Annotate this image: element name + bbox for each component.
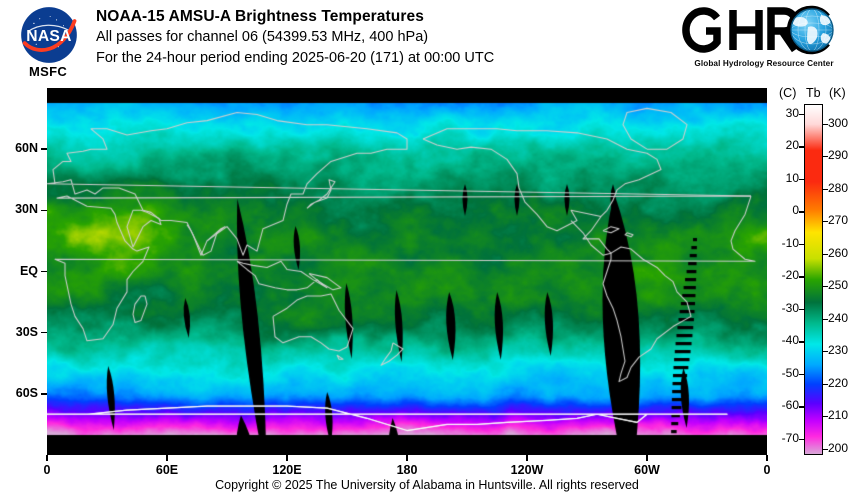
x-axis-label: 0 bbox=[745, 463, 789, 477]
ghrc-logo: Global Hydrology Resource Center bbox=[681, 4, 847, 78]
colorbar-tick-mark bbox=[799, 341, 805, 342]
x-axis-tick-mark bbox=[166, 455, 167, 461]
colorbar-kelvin-tick: 250 bbox=[828, 278, 848, 292]
colorbar-tick-mark bbox=[799, 179, 805, 180]
colorbar-tick-mark bbox=[822, 449, 828, 450]
colorbar-celsius-tick: -40 bbox=[763, 333, 799, 347]
colorbar-kelvin-tick: 210 bbox=[828, 408, 848, 422]
colorbar-tick-mark bbox=[799, 146, 805, 147]
x-axis-label: 120W bbox=[505, 463, 549, 477]
colorbar-tick-mark bbox=[799, 276, 805, 277]
colorbar-kelvin-tick: 290 bbox=[828, 148, 848, 162]
globe-icon bbox=[791, 9, 833, 51]
colorbar-celsius-tick: -50 bbox=[763, 366, 799, 380]
y-axis-label: EQ bbox=[0, 264, 38, 278]
colorbar-gradient bbox=[805, 105, 822, 454]
x-axis-tick-mark bbox=[646, 455, 647, 461]
y-axis-label: 30N bbox=[0, 202, 38, 216]
colorbar-celsius-tick: -70 bbox=[763, 431, 799, 445]
y-axis-label: 60S bbox=[0, 386, 38, 400]
x-axis-label: 120E bbox=[265, 463, 309, 477]
colorbar-tick-mark bbox=[822, 319, 828, 320]
x-axis-tick-mark bbox=[46, 455, 47, 461]
colorbar-tick-mark bbox=[822, 286, 828, 287]
colorbar-kelvin-tick: 200 bbox=[828, 441, 848, 455]
colorbar-tick-mark bbox=[799, 374, 805, 375]
page-title: NOAA-15 AMSU-A Brightness Temperatures bbox=[96, 7, 494, 27]
colorbar-kelvin-tick: 260 bbox=[828, 246, 848, 260]
x-axis-label: 180 bbox=[385, 463, 429, 477]
colorbar-tick-mark bbox=[799, 406, 805, 407]
brightness-temperature-heatmap[interactable] bbox=[47, 88, 767, 455]
colorbar-kelvin-tick: 240 bbox=[828, 311, 848, 325]
colorbar-tick-mark bbox=[822, 351, 828, 352]
y-axis-tick-mark bbox=[41, 210, 47, 211]
colorbar-tick-mark bbox=[822, 156, 828, 157]
colorbar-tick-mark bbox=[799, 114, 805, 115]
x-axis-tick-mark bbox=[406, 455, 407, 461]
colorbar-celsius-tick: -30 bbox=[763, 301, 799, 315]
x-axis-label: 60E bbox=[145, 463, 189, 477]
nasa-center-label: MSFC bbox=[8, 64, 88, 79]
colorbar-tick-mark bbox=[799, 439, 805, 440]
figure-root: NASA MSFC NOAA-15 AMSU-A Brightness Temp… bbox=[0, 0, 854, 502]
colorbar-tick-mark bbox=[822, 124, 828, 125]
map-plot-area[interactable] bbox=[47, 88, 767, 455]
colorbar-celsius-tick: 10 bbox=[763, 171, 799, 185]
colorbar-celsius-tick: 30 bbox=[763, 106, 799, 120]
ghrc-acronym-icon bbox=[681, 5, 847, 57]
colorbar-tick-mark bbox=[822, 384, 828, 385]
colorbar-kelvin-tick: 300 bbox=[828, 116, 848, 130]
nasa-wordmark: NASA bbox=[26, 28, 72, 45]
title-line-3: For the 24-hour period ending 2025-06-20… bbox=[96, 48, 494, 69]
colorbar-celsius-tick: -20 bbox=[763, 268, 799, 282]
colorbar-quantity-label: Tb bbox=[806, 86, 821, 100]
y-axis-label: 30S bbox=[0, 325, 38, 339]
colorbar-tick-mark bbox=[822, 416, 828, 417]
x-axis-tick-mark bbox=[766, 455, 767, 461]
ghrc-subtitle: Global Hydrology Resource Center bbox=[681, 59, 847, 68]
colorbar-tick-mark bbox=[799, 211, 805, 212]
colorbar-unit-celsius: (C) bbox=[779, 86, 796, 100]
nasa-logo: NASA MSFC bbox=[8, 4, 88, 84]
x-axis-tick-mark bbox=[526, 455, 527, 461]
copyright-notice: Copyright © 2025 The University of Alaba… bbox=[0, 478, 854, 492]
colorbar-celsius-tick: 0 bbox=[763, 203, 799, 217]
title-block: NOAA-15 AMSU-A Brightness Temperatures A… bbox=[96, 7, 494, 68]
colorbar-tick-mark bbox=[799, 244, 805, 245]
colorbar-unit-kelvin: (K) bbox=[829, 86, 846, 100]
y-axis-label: 60N bbox=[0, 141, 38, 155]
colorbar-celsius-tick: 20 bbox=[763, 138, 799, 152]
colorbar-tick-mark bbox=[822, 221, 828, 222]
colorbar-tick-mark bbox=[822, 189, 828, 190]
colorbar-celsius-tick: -10 bbox=[763, 236, 799, 250]
y-axis-tick-mark bbox=[41, 393, 47, 394]
y-axis-tick-mark bbox=[41, 332, 47, 333]
colorbar-kelvin-tick: 230 bbox=[828, 343, 848, 357]
colorbar-tick-mark bbox=[799, 309, 805, 310]
nasa-meatball-icon: NASA bbox=[20, 6, 78, 64]
colorbar[interactable] bbox=[804, 104, 823, 455]
colorbar-celsius-tick: -60 bbox=[763, 398, 799, 412]
colorbar-kelvin-tick: 220 bbox=[828, 376, 848, 390]
y-axis-tick-mark bbox=[41, 148, 47, 149]
colorbar-kelvin-tick: 270 bbox=[828, 213, 848, 227]
x-axis-label: 60W bbox=[625, 463, 669, 477]
x-axis-tick-mark bbox=[286, 455, 287, 461]
y-axis-tick-mark bbox=[41, 271, 47, 272]
x-axis-label: 0 bbox=[25, 463, 69, 477]
colorbar-tick-mark bbox=[822, 254, 828, 255]
colorbar-kelvin-tick: 280 bbox=[828, 181, 848, 195]
title-line-2: All passes for channel 06 (54399.53 MHz,… bbox=[96, 27, 494, 48]
